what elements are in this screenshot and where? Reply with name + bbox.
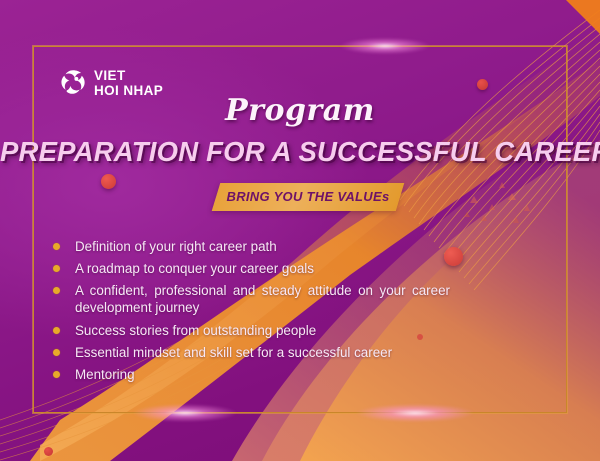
- page-title: PREPARATION FOR A SUCCESSFUL CAREER: [0, 136, 600, 168]
- value-banner: BRING YOU THE VALUEs: [212, 183, 405, 211]
- benefits-list: Definition of your right career path A r…: [48, 238, 438, 388]
- list-item: Definition of your right career path: [48, 238, 438, 255]
- list-item: Essential mindset and skill set for a su…: [48, 344, 438, 361]
- corner-triangle-accent-icon: [566, 0, 600, 34]
- list-item: A confident, professional and steady att…: [48, 282, 450, 316]
- poster-canvas: VIET HOI NHAP Program PREPARATION FOR A …: [0, 0, 600, 461]
- brand-line-1: VIET: [94, 69, 163, 83]
- list-item: Mentoring: [48, 366, 438, 383]
- value-banner-label: BRING YOU THE VALUEs: [216, 183, 400, 211]
- program-eyebrow: Program: [0, 93, 600, 128]
- list-item: A roadmap to conquer your career goals: [48, 260, 438, 277]
- decor-dot-red-4: [44, 447, 53, 456]
- list-item: Success stories from outstanding people: [48, 322, 438, 339]
